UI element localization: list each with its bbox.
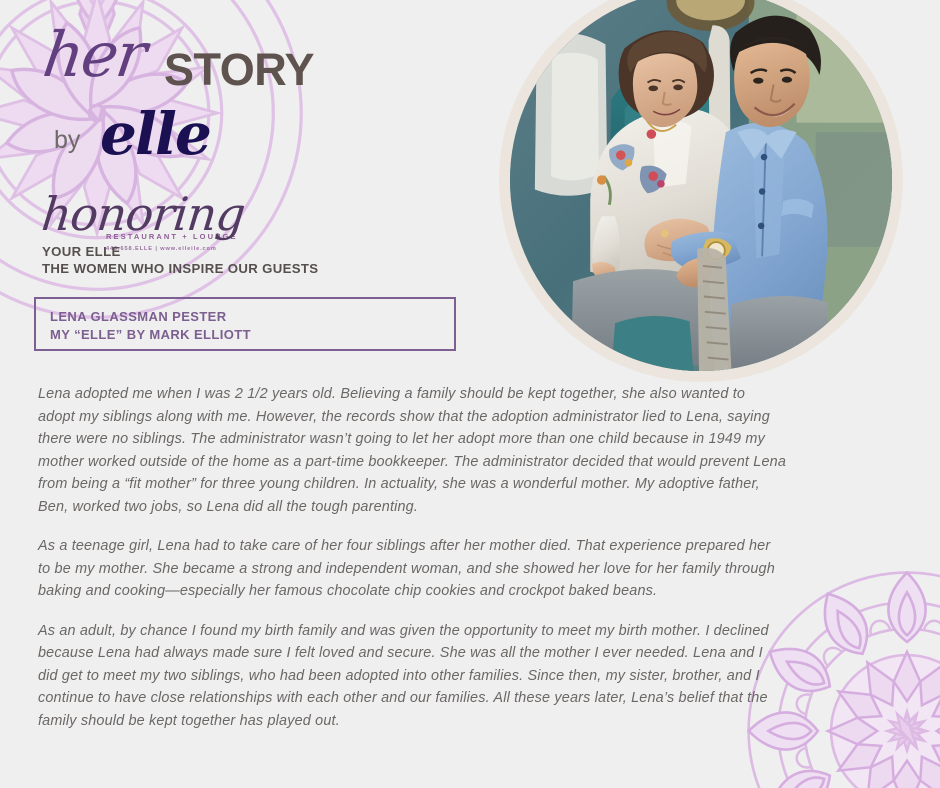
honoring-script-heading: honoring	[39, 190, 246, 238]
elle-logotype: elle	[100, 100, 210, 168]
story-paragraph-1: Lena adopted me when I was 2 1/2 years o…	[38, 383, 786, 518]
honoree-attribution: MY “ELLE” BY MARK ELLIOTT	[50, 326, 454, 344]
honoring-block: honoring YOUR ELLE THE WOMEN WHO INSPIRE…	[42, 190, 462, 278]
honoree-photo-frame	[499, 0, 903, 382]
title-story-bold: STORY	[164, 44, 314, 96]
title-her-script: her	[39, 18, 150, 91]
honoring-subtitle-line-1: YOUR ELLE	[42, 244, 462, 261]
title-row: her STORY	[44, 22, 374, 100]
brand-logo-block: her STORY by elle RESTAURANT + LOUNGE 44…	[44, 22, 374, 168]
story-paragraph-2: As a teenage girl, Lena had to take care…	[38, 535, 786, 603]
by-elle-row: by elle RESTAURANT + LOUNGE 440.658.ELLE…	[44, 104, 374, 168]
story-paragraph-3: As an adult, by chance I found my birth …	[38, 620, 786, 733]
honoree-name: LENA GLASSMAN PESTER	[50, 308, 454, 326]
her-story-poster: her STORY by elle RESTAURANT + LOUNGE 44…	[0, 0, 940, 788]
honoree-name-box: LENA GLASSMAN PESTER MY “ELLE” BY MARK E…	[34, 297, 456, 351]
story-body: Lena adopted me when I was 2 1/2 years o…	[38, 383, 786, 732]
honoring-subtitle: YOUR ELLE THE WOMEN WHO INSPIRE OUR GUES…	[42, 244, 462, 278]
honoree-photo	[510, 0, 892, 371]
by-label: by	[54, 126, 80, 155]
honoring-subtitle-line-2: THE WOMEN WHO INSPIRE OUR GUESTS	[42, 261, 462, 278]
